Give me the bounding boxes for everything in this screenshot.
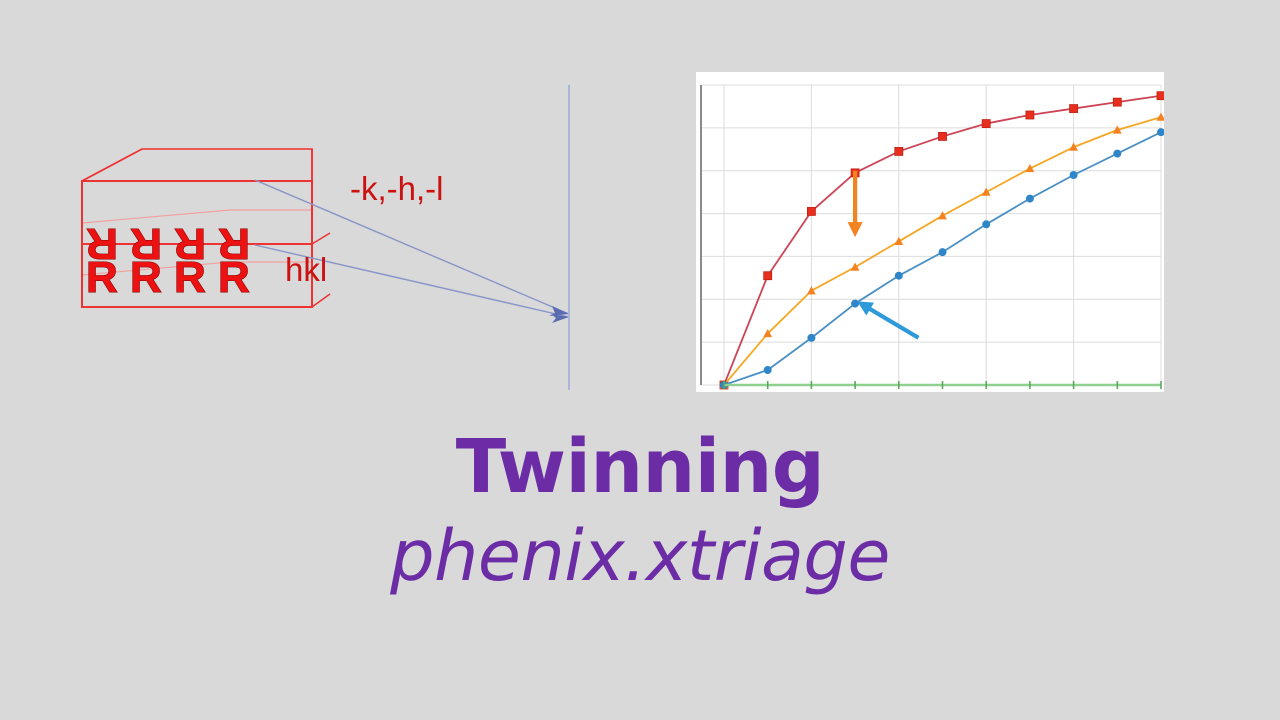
marker-circle [982, 220, 990, 228]
hkl-label: hkl [285, 251, 327, 288]
slide-canvas: R R R R R R R R [0, 0, 1280, 720]
box-top-face [82, 149, 312, 181]
marker-square [1070, 105, 1078, 113]
original-letter-r: R [218, 253, 250, 302]
original-domain-letters: R R R R [86, 253, 250, 302]
marker-circle [939, 248, 947, 256]
marker-square [1157, 92, 1164, 100]
original-letter-r: R [86, 253, 118, 302]
marker-square [939, 132, 947, 140]
marker-circle [1113, 150, 1121, 158]
marker-circle [764, 366, 772, 374]
marker-circle [807, 334, 815, 342]
twin-operator-label: -k,-h,-l [350, 170, 444, 207]
marker-square [895, 147, 903, 155]
twinning-ntz-plot [696, 72, 1164, 392]
marker-circle [895, 272, 903, 280]
page-title: Twinning [0, 424, 1280, 510]
original-letter-r: R [174, 253, 206, 302]
marker-square [764, 272, 772, 280]
marker-square [1026, 111, 1034, 119]
marker-square [982, 120, 990, 128]
page-subtitle: phenix.xtriage [0, 510, 1280, 602]
marker-circle [851, 300, 859, 308]
marker-square [807, 207, 815, 215]
marker-circle [1070, 171, 1078, 179]
caption-block: Twinning phenix.xtriage [0, 424, 1280, 602]
twinned-crystal-diagram: R R R R R R R R [60, 125, 580, 410]
plot-background [696, 72, 1164, 392]
marker-square [1113, 98, 1121, 106]
detector-plane-line [568, 85, 570, 390]
original-letter-r: R [130, 253, 162, 302]
ray-arrowheads [549, 306, 569, 323]
marker-circle [1026, 195, 1034, 203]
